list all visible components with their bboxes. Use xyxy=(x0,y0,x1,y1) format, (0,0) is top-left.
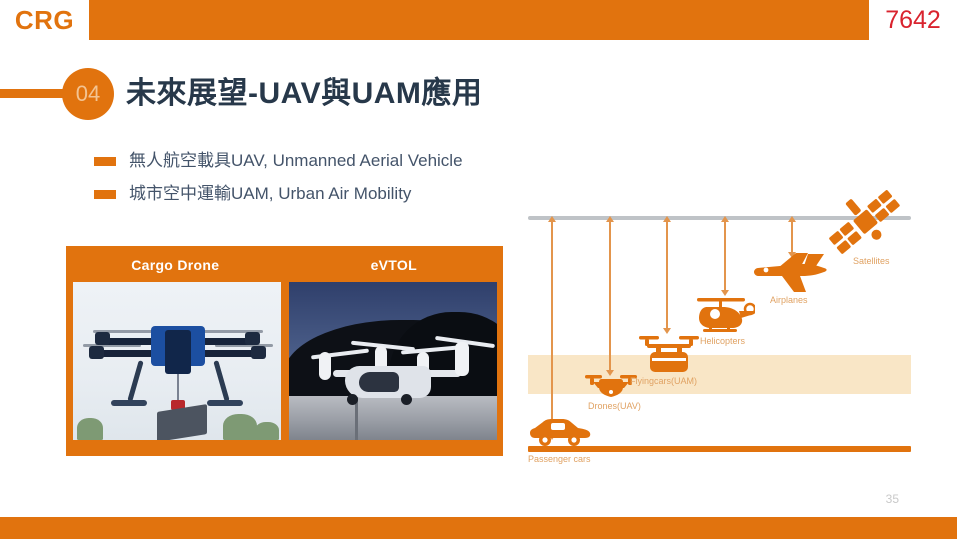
label-flyingcars-uam: Flyingcars(UAM) xyxy=(630,376,697,387)
bullet-square-icon xyxy=(94,190,116,199)
drone-skid xyxy=(111,400,147,406)
brand-logo-text: CRG xyxy=(15,7,74,33)
page-title: 未來展望-UAV與UAM應用 xyxy=(126,72,482,116)
drone-motor xyxy=(95,332,110,345)
evtol-nacelle xyxy=(319,352,331,380)
drone-arm xyxy=(97,350,159,357)
cargo-drone-photo xyxy=(73,282,281,440)
slide: CRG 7642 04 未來展望-UAV與UAM應用 無人航空載具UAV, Un… xyxy=(0,0,957,539)
photo-heading-label: Cargo Drone xyxy=(131,257,219,273)
doc-number-text: 7642 xyxy=(885,8,941,33)
altitude-arrow-airplanes xyxy=(791,221,793,253)
drone-arm xyxy=(197,350,259,357)
evtol-photo xyxy=(289,282,497,440)
bottom-orange-bar xyxy=(0,517,957,539)
flying-car-icon xyxy=(638,333,700,375)
photo-heading-cargo-drone: Cargo Drone xyxy=(66,246,285,284)
tree-shape xyxy=(255,422,279,440)
label-airplanes: Airplanes xyxy=(770,295,808,306)
airplane-icon xyxy=(752,252,832,294)
evtol-landing-wheel xyxy=(401,394,412,405)
list-item: 無人航空載具UAV, Unmanned Aerial Vehicle xyxy=(94,150,463,172)
bullet-list: 無人航空載具UAV, Unmanned Aerial Vehicle 城市空中運… xyxy=(94,150,463,216)
photo-panel-bottom-bar xyxy=(66,448,503,456)
label-drones-uav: Drones(UAV) xyxy=(588,401,641,412)
drone-skid xyxy=(207,400,243,406)
evtol-canopy xyxy=(359,372,399,392)
altitude-arrow-drones xyxy=(609,221,611,371)
tree-shape xyxy=(223,414,257,440)
altitude-diagram: Passenger cars Drones(UAV) Flyingcars(UA… xyxy=(520,190,940,480)
doc-number-box: 7642 xyxy=(869,0,957,40)
label-satellites: Satellites xyxy=(853,256,890,267)
helicopter-icon xyxy=(693,295,755,337)
list-item: 城市空中運輸UAM, Urban Air Mobility xyxy=(94,183,463,205)
bullet-text: 城市空中運輸UAM, Urban Air Mobility xyxy=(129,183,411,205)
section-number-text: 04 xyxy=(76,83,100,105)
evtol-landing-wheel xyxy=(347,394,358,405)
bullet-text: 無人航空載具UAV, Unmanned Aerial Vehicle xyxy=(129,150,463,172)
tarmac-surface xyxy=(289,396,497,440)
brand-logo: CRG xyxy=(0,0,89,40)
photo-panel: Cargo Drone eVTOL xyxy=(66,246,503,456)
drone-motor xyxy=(245,332,260,345)
section-number-badge: 04 xyxy=(62,68,114,120)
bullet-square-icon xyxy=(94,157,116,166)
label-passenger-cars: Passenger cars xyxy=(528,454,591,465)
satellite-icon xyxy=(825,190,903,256)
drone-motor xyxy=(251,346,266,359)
car-icon xyxy=(529,418,591,448)
photo-panel-headings: Cargo Drone eVTOL xyxy=(66,246,503,284)
altitude-arrow-cars xyxy=(551,221,553,435)
tree-shape xyxy=(77,418,103,440)
altitude-arrow-helicopters xyxy=(724,221,726,291)
page-number: 35 xyxy=(886,492,899,506)
drone-motor xyxy=(89,346,104,359)
photo-heading-evtol: eVTOL xyxy=(285,246,504,284)
top-orange-bar xyxy=(0,0,957,40)
label-helicopters: Helicopters xyxy=(700,336,745,347)
photo-heading-label: eVTOL xyxy=(371,257,417,273)
evtol-nacelle xyxy=(455,342,469,376)
drone-payload-bay xyxy=(165,330,191,374)
altitude-arrow-flyingcars xyxy=(666,221,668,329)
